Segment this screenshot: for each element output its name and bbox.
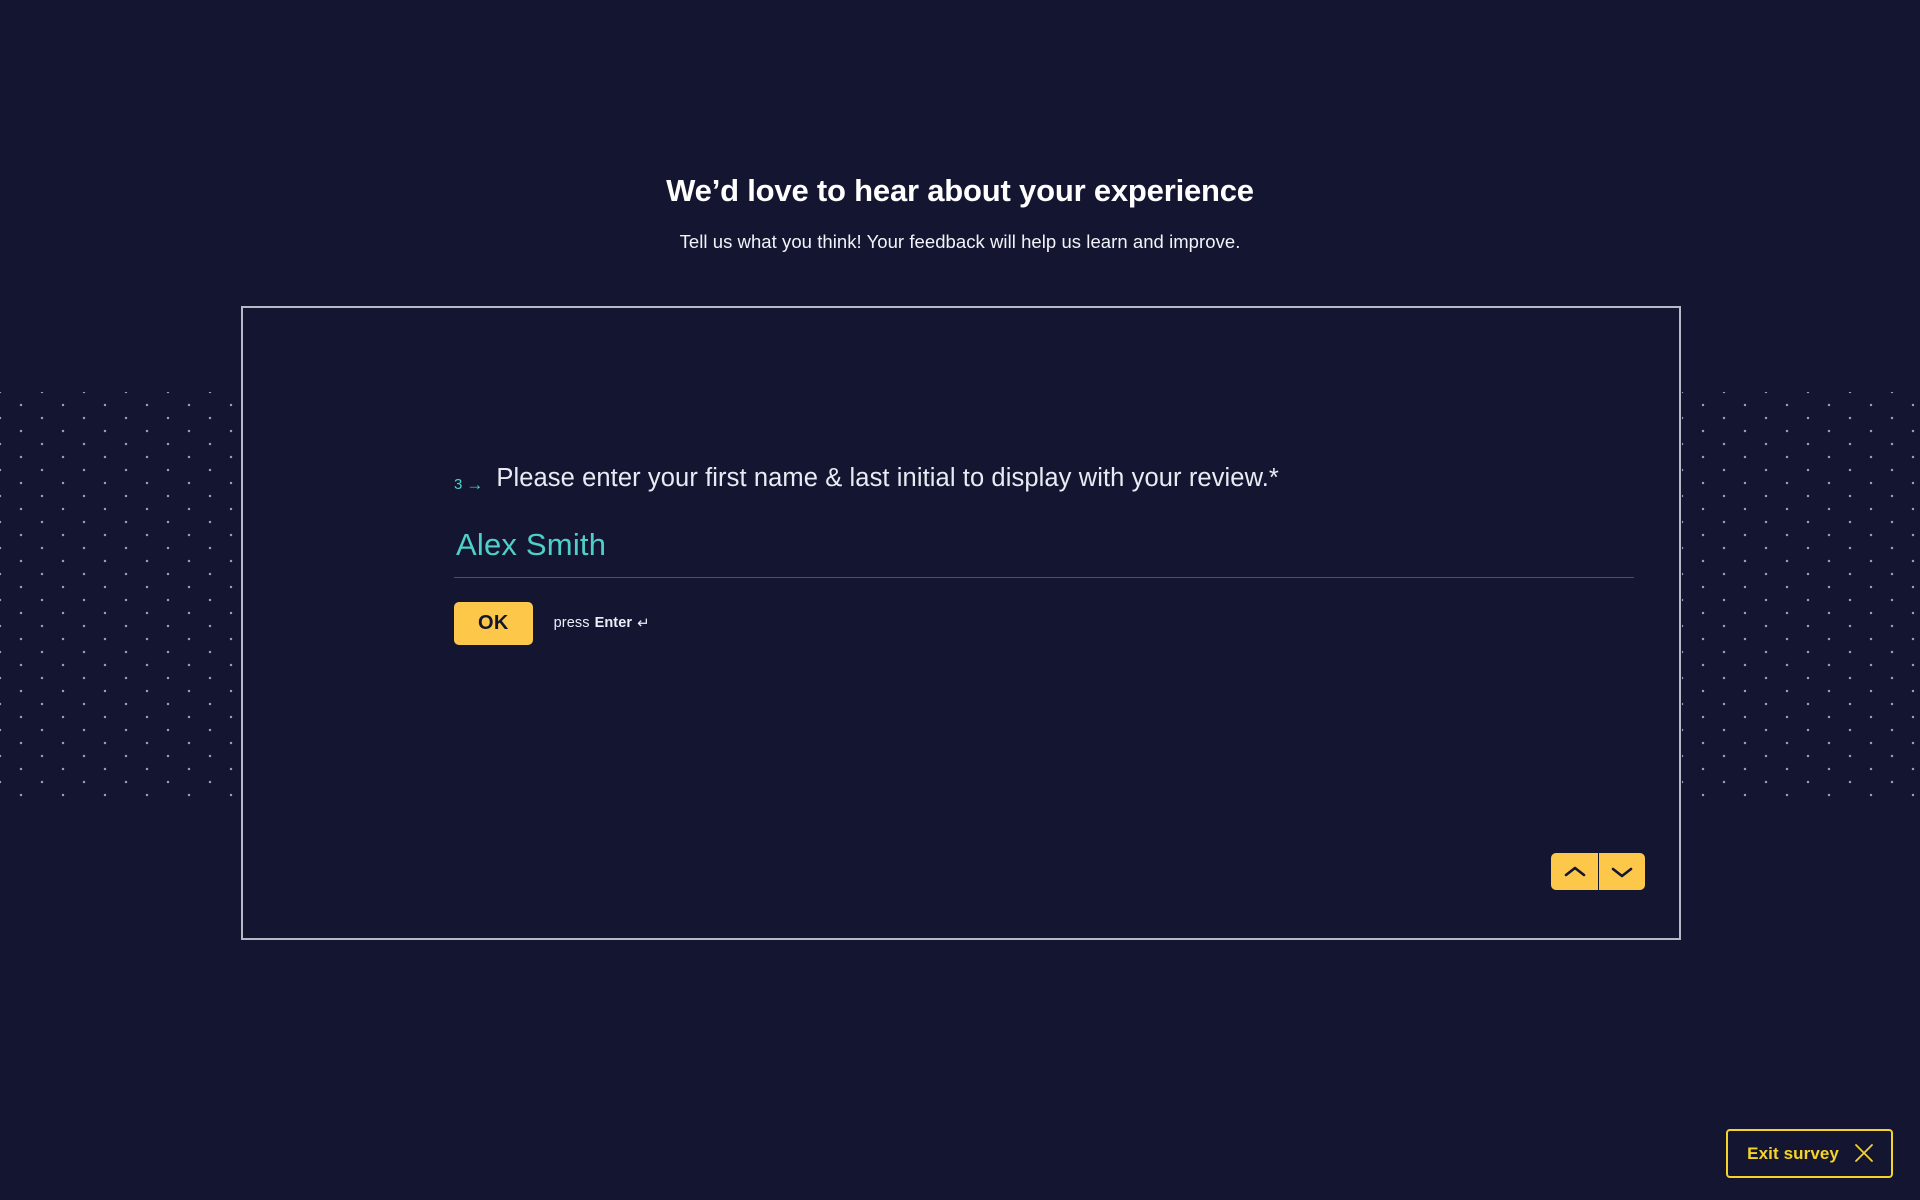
exit-survey-label: Exit survey [1747,1145,1839,1162]
previous-question-button[interactable] [1551,853,1598,890]
question-row: 3 → Please enter your first name & last … [454,462,1374,496]
question-navigation [1551,853,1645,890]
submit-row: OK press Enter ↵ [454,602,1374,645]
ok-button[interactable]: OK [454,602,533,645]
exit-survey-button[interactable]: Exit survey [1726,1129,1893,1178]
press-enter-hint: press Enter ↵ [554,614,650,632]
dot-grid-pattern-right [1682,392,1920,804]
survey-header: We’d love to hear about your experience … [0,172,1920,253]
answer-field-wrapper [454,527,1634,578]
page-title: We’d love to hear about your experience [0,172,1920,211]
arrow-right-icon: → [466,476,483,493]
hint-enter-key: Enter [595,615,633,631]
dot-grid-pattern-left [0,392,240,804]
close-x-icon [1854,1143,1874,1163]
question-number: 3 [454,477,462,492]
question-block: 3 → Please enter your first name & last … [454,462,1374,645]
question-number-group: 3 → [454,462,483,493]
page-subtitle: Tell us what you think! Your feedback wi… [0,231,1920,253]
chevron-up-icon [1564,865,1586,879]
question-text: Please enter your first name & last init… [496,462,1279,496]
return-arrow-icon: ↵ [637,614,650,632]
hint-prefix: press [554,615,590,631]
chevron-down-icon [1611,865,1633,879]
next-question-button[interactable] [1598,853,1645,890]
answer-input[interactable] [454,527,1634,578]
survey-card: 3 → Please enter your first name & last … [241,306,1681,940]
